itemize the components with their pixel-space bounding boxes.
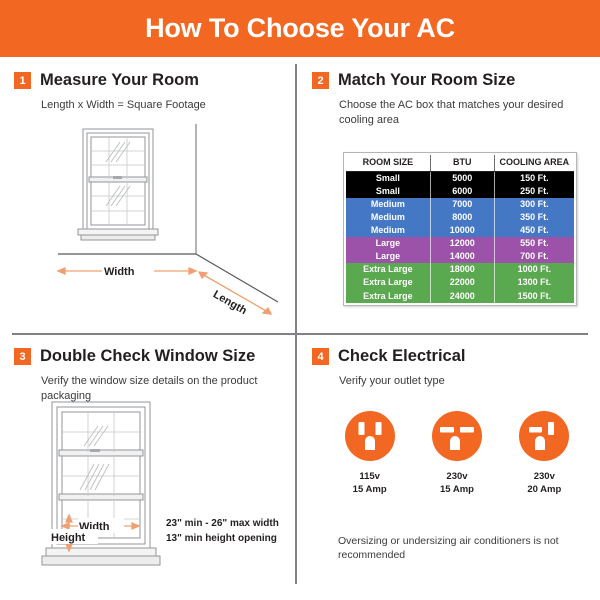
- window-note-width: 23" min - 26" max width: [166, 516, 296, 531]
- width-label: Width: [104, 266, 135, 278]
- cell-cooling-area: 1300 Ft.: [494, 276, 574, 289]
- panel-match-your-room-size: 2 Match Your Room Size Choose the AC box…: [312, 72, 588, 322]
- step-number-1: 1: [14, 72, 31, 89]
- cell-room-size: Small: [346, 171, 430, 185]
- vertical-divider: [295, 64, 297, 584]
- table-row: Small6000250 Ft.: [346, 185, 574, 198]
- table-row: Extra Large220001300 Ft.: [346, 276, 574, 289]
- table-row: Large14000700 Ft.: [346, 250, 574, 263]
- room-corner-diagram: Width Length: [28, 124, 286, 324]
- outlet-type-list: 115v 15 Amp 230v 15 Amp: [326, 410, 588, 496]
- cell-room-size: Small: [346, 185, 430, 198]
- cell-btu: 7000: [430, 198, 494, 211]
- table-row: Extra Large240001500 Ft.: [346, 290, 574, 303]
- outlet-115v-15amp-caption: 115v 15 Amp: [353, 471, 387, 496]
- column-header-room-size: ROOM SIZE: [346, 155, 430, 171]
- outlet-230v-20amp-icon: [518, 410, 570, 462]
- panel-1-header: 1 Measure Your Room: [14, 72, 286, 89]
- cell-cooling-area: 450 Ft.: [494, 224, 574, 237]
- panel-1-title: Measure Your Room: [40, 72, 199, 89]
- cell-btu: 10000: [430, 224, 494, 237]
- cell-btu: 24000: [430, 290, 494, 303]
- cell-cooling-area: 150 Ft.: [494, 171, 574, 185]
- cell-btu: 18000: [430, 263, 494, 276]
- outlet-amperage: 15 Amp: [353, 484, 387, 497]
- cell-room-size: Large: [346, 237, 430, 250]
- cell-cooling-area: 700 Ft.: [494, 250, 574, 263]
- step-number-4: 4: [312, 348, 329, 365]
- cell-room-size: Medium: [346, 211, 430, 224]
- panel-4-subtitle: Verify your outlet type: [339, 374, 588, 389]
- outlet-amperage: 15 Amp: [440, 484, 474, 497]
- sizing-footnote: Oversizing or undersizing air conditione…: [338, 534, 578, 563]
- panel-2-subtitle: Choose the AC box that matches your desi…: [339, 98, 588, 127]
- outlet-voltage: 230v: [527, 471, 561, 484]
- panel-2-header: 2 Match Your Room Size: [312, 72, 588, 89]
- infographic-page: How To Choose Your AC 1 Measure Your Roo…: [0, 0, 600, 600]
- panel-double-check-window-size: 3 Double Check Window Size Verify the wi…: [14, 348, 286, 588]
- cell-btu: 6000: [430, 185, 494, 198]
- cell-btu: 22000: [430, 276, 494, 289]
- cell-cooling-area: 250 Ft.: [494, 185, 574, 198]
- panel-4-header: 4 Check Electrical: [312, 348, 588, 365]
- cell-room-size: Extra Large: [346, 263, 430, 276]
- window-dimension-note: 23" min - 26" max width 13" min height o…: [166, 516, 296, 546]
- window-note-height: 13" min height opening: [166, 531, 296, 546]
- outlet-230v-15amp-icon: [431, 410, 483, 462]
- ac-sizing-table: ROOM SIZE BTU COOLING AREA Small5000150 …: [346, 155, 574, 303]
- column-header-btu: BTU: [430, 155, 494, 171]
- cell-btu: 8000: [430, 211, 494, 224]
- cell-cooling-area: 1500 Ft.: [494, 290, 574, 303]
- panel-1-subtitle: Length x Width = Square Footage: [41, 98, 286, 113]
- window-measurement-diagram: Width Height: [32, 398, 172, 588]
- table-header-row: ROOM SIZE BTU COOLING AREA: [346, 155, 574, 171]
- panel-2-title: Match Your Room Size: [338, 72, 515, 89]
- panel-3-title: Double Check Window Size: [40, 348, 255, 365]
- table-row: Medium10000450 Ft.: [346, 224, 574, 237]
- outlet-115v-15amp-icon: [344, 410, 396, 462]
- page-header: How To Choose Your AC: [0, 0, 600, 57]
- outlet-230v-20amp-caption: 230v 20 Amp: [527, 471, 561, 496]
- cell-cooling-area: 300 Ft.: [494, 198, 574, 211]
- step-number-2: 2: [312, 72, 329, 89]
- table-row: Small5000150 Ft.: [346, 171, 574, 185]
- cell-room-size: Extra Large: [346, 290, 430, 303]
- cell-btu: 14000: [430, 250, 494, 263]
- horizontal-divider: [12, 333, 588, 335]
- cell-room-size: Medium: [346, 224, 430, 237]
- outlet-voltage: 230v: [440, 471, 474, 484]
- cell-room-size: Large: [346, 250, 430, 263]
- window-height-label: Height: [51, 532, 86, 544]
- panel-check-electrical: 4 Check Electrical Verify your outlet ty…: [312, 348, 588, 588]
- outlet-option-230v-20amp: 230v 20 Amp: [507, 410, 581, 496]
- ac-sizing-table-container: ROOM SIZE BTU COOLING AREA Small5000150 …: [343, 152, 577, 306]
- ac-sizing-table-body: Small5000150 Ft.Small6000250 Ft.Medium70…: [346, 171, 574, 303]
- table-row: Extra Large180001000 Ft.: [346, 263, 574, 276]
- table-row: Medium8000350 Ft.: [346, 211, 574, 224]
- panel-4-title: Check Electrical: [338, 348, 466, 365]
- cell-room-size: Medium: [346, 198, 430, 211]
- panel-measure-your-room: 1 Measure Your Room Length x Width = Squ…: [14, 72, 286, 322]
- cell-cooling-area: 1000 Ft.: [494, 263, 574, 276]
- cell-cooling-area: 350 Ft.: [494, 211, 574, 224]
- cell-btu: 5000: [430, 171, 494, 185]
- outlet-amperage: 20 Amp: [527, 484, 561, 497]
- step-number-3: 3: [14, 348, 31, 365]
- cell-cooling-area: 550 Ft.: [494, 237, 574, 250]
- panel-3-header: 3 Double Check Window Size: [14, 348, 286, 365]
- column-header-cooling-area: COOLING AREA: [494, 155, 574, 171]
- cell-btu: 12000: [430, 237, 494, 250]
- table-row: Large12000550 Ft.: [346, 237, 574, 250]
- outlet-230v-15amp-caption: 230v 15 Amp: [440, 471, 474, 496]
- cell-room-size: Extra Large: [346, 276, 430, 289]
- outlet-option-115v-15amp: 115v 15 Amp: [333, 410, 407, 496]
- page-title: How To Choose Your AC: [145, 13, 455, 44]
- outlet-option-230v-15amp: 230v 15 Amp: [420, 410, 494, 496]
- table-row: Medium7000300 Ft.: [346, 198, 574, 211]
- outlet-voltage: 115v: [353, 471, 387, 484]
